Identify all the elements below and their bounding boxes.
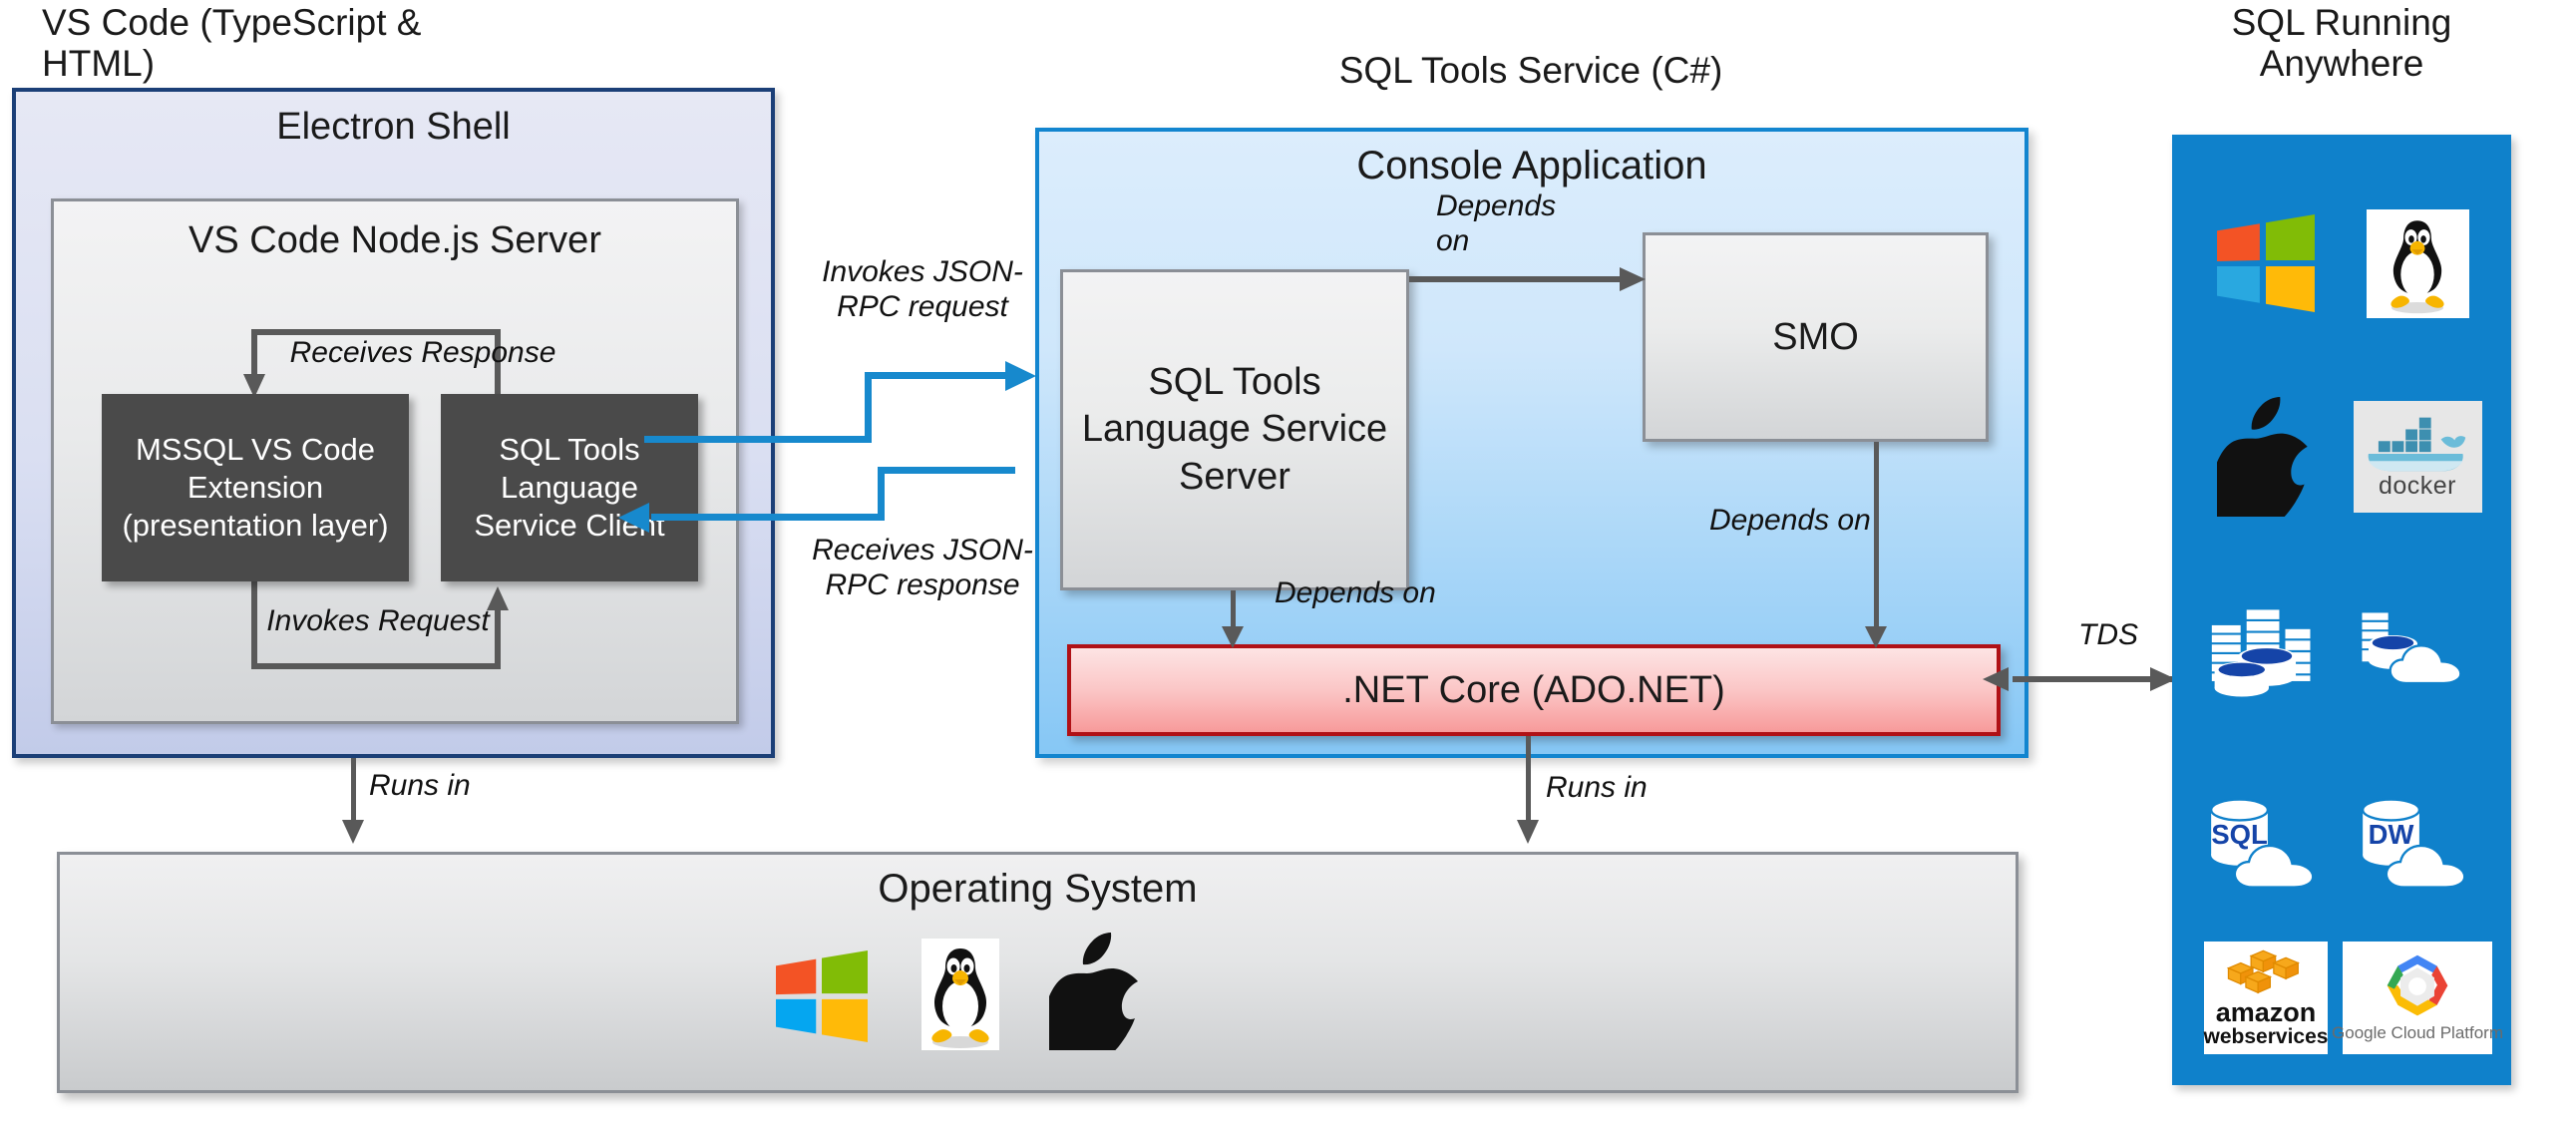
azure-sql-data-warehouse-icon: DW bbox=[2351, 793, 2484, 897]
receives-jsonrpc-response-label: Receives JSON- RPC response bbox=[798, 534, 1047, 603]
depends-on-netcore-left-label: Depends on bbox=[1275, 576, 1534, 611]
caption-vscode: VS Code (TypeScript & HTML) bbox=[42, 2, 461, 85]
electron-shell-panel: Electron Shell VS Code Node.js Server Re… bbox=[12, 88, 775, 758]
vscode-nodejs-server-box: VS Code Node.js Server Receives Response… bbox=[51, 198, 739, 724]
windows-logo-icon bbox=[2215, 214, 2317, 312]
jsonrpc-request-arrowhead bbox=[1005, 361, 1036, 391]
electron-shell-title: Electron Shell bbox=[16, 106, 771, 149]
linux-tux-icon bbox=[921, 939, 999, 1050]
azure-sql-label: SQL bbox=[2211, 819, 2267, 850]
mssql-vscode-extension-box[interactable]: MSSQL VS Code Extension (presentation la… bbox=[102, 394, 409, 581]
apple-logo-icon bbox=[1049, 933, 1145, 1050]
depends-on-smo-line bbox=[1409, 276, 1623, 282]
runs-in-right-arrowhead bbox=[1517, 820, 1539, 844]
docker-logo-icon: docker bbox=[2354, 401, 2482, 513]
runs-in-right-line bbox=[1526, 736, 1531, 830]
smo-label: SMO bbox=[1772, 316, 1859, 359]
aws-label-line1: amazon bbox=[2216, 1000, 2317, 1026]
jsonrpc-request-line-vertical bbox=[865, 372, 872, 443]
tds-arrowhead-left bbox=[1983, 667, 2009, 691]
azure-sql-database-icon: SQL bbox=[2199, 793, 2333, 897]
operating-system-box: Operating System bbox=[57, 852, 2019, 1093]
apple-logo-icon bbox=[2217, 397, 2315, 517]
runs-in-left-arrowhead bbox=[342, 820, 364, 844]
depends-on-netcore-right-arrowhead bbox=[1865, 626, 1887, 648]
gcp-label: Google Cloud Platform bbox=[2332, 1023, 2503, 1043]
depends-on-smo-arrowhead bbox=[1620, 267, 1646, 291]
aws-label-line2: webservices bbox=[2204, 1026, 2329, 1047]
mssql-vscode-extension-label: MSSQL VS Code Extension (presentation la… bbox=[112, 431, 399, 544]
sqltools-language-service-client-box[interactable]: SQL Tools Language Service Client bbox=[441, 394, 698, 581]
invokes-jsonrpc-request-label: Invokes JSON- RPC request bbox=[798, 255, 1047, 325]
smo-box[interactable]: SMO bbox=[1643, 232, 1989, 442]
receives-response-label: Receives Response bbox=[278, 336, 567, 371]
sqltools-language-service-server-label: SQL Tools Language Service Server bbox=[1063, 359, 1406, 500]
sql-running-anywhere-panel: docker bbox=[2172, 135, 2511, 1085]
depends-on-netcore-right-label: Depends on bbox=[1709, 504, 1969, 539]
depends-on-smo-label: Depends on bbox=[1436, 189, 1606, 259]
jsonrpc-response-line-upper bbox=[878, 467, 1015, 474]
linux-tux-icon bbox=[2367, 209, 2469, 318]
invokes-request-connector-bottom bbox=[251, 663, 501, 669]
runs-in-left-label: Runs in bbox=[369, 769, 568, 804]
receives-response-connector-left bbox=[251, 329, 257, 377]
jsonrpc-request-line-upper bbox=[865, 372, 1011, 379]
cloud-database-icon bbox=[2352, 603, 2483, 699]
tds-label: TDS bbox=[2048, 618, 2168, 653]
dotnet-core-adonet-label: .NET Core (ADO.NET) bbox=[1342, 669, 1725, 712]
caption-sql-tools-service: SQL Tools Service (C#) bbox=[1272, 50, 1790, 91]
jsonrpc-response-line-vertical bbox=[878, 467, 885, 521]
google-cloud-platform-logo-icon: Google Cloud Platform bbox=[2343, 942, 2492, 1054]
invokes-request-label: Invokes Request bbox=[233, 604, 523, 639]
windows-logo-icon bbox=[774, 950, 870, 1042]
sql-running-anywhere-icon-grid: docker bbox=[2190, 167, 2493, 1054]
azure-dw-label: DW bbox=[2369, 819, 2414, 850]
dotnet-core-adonet-box[interactable]: .NET Core (ADO.NET) bbox=[1067, 644, 2001, 736]
receives-response-connector-top bbox=[251, 329, 501, 335]
datacenter-database-icon bbox=[2203, 602, 2329, 700]
depends-on-netcore-right-line bbox=[1874, 442, 1879, 635]
sqltools-language-service-server-box[interactable]: SQL Tools Language Service Server bbox=[1060, 269, 1409, 590]
vscode-nodejs-server-title: VS Code Node.js Server bbox=[54, 219, 736, 262]
jsonrpc-response-line-lower bbox=[651, 514, 885, 521]
runs-in-right-label: Runs in bbox=[1546, 771, 1745, 806]
depends-on-netcore-left-arrowhead bbox=[1222, 626, 1244, 648]
console-application-title: Console Application bbox=[1039, 144, 2024, 189]
operating-system-title: Operating System bbox=[60, 867, 2016, 912]
jsonrpc-request-line-lower bbox=[644, 436, 872, 443]
docker-label: docker bbox=[2379, 472, 2456, 501]
sqltools-language-service-client-label: SQL Tools Language Service Client bbox=[451, 431, 688, 544]
amazon-web-services-logo-icon: amazon webservices bbox=[2204, 942, 2328, 1054]
caption-sql-running-anywhere: SQL Running Anywhere bbox=[2182, 2, 2501, 85]
jsonrpc-response-arrowhead bbox=[618, 503, 649, 533]
